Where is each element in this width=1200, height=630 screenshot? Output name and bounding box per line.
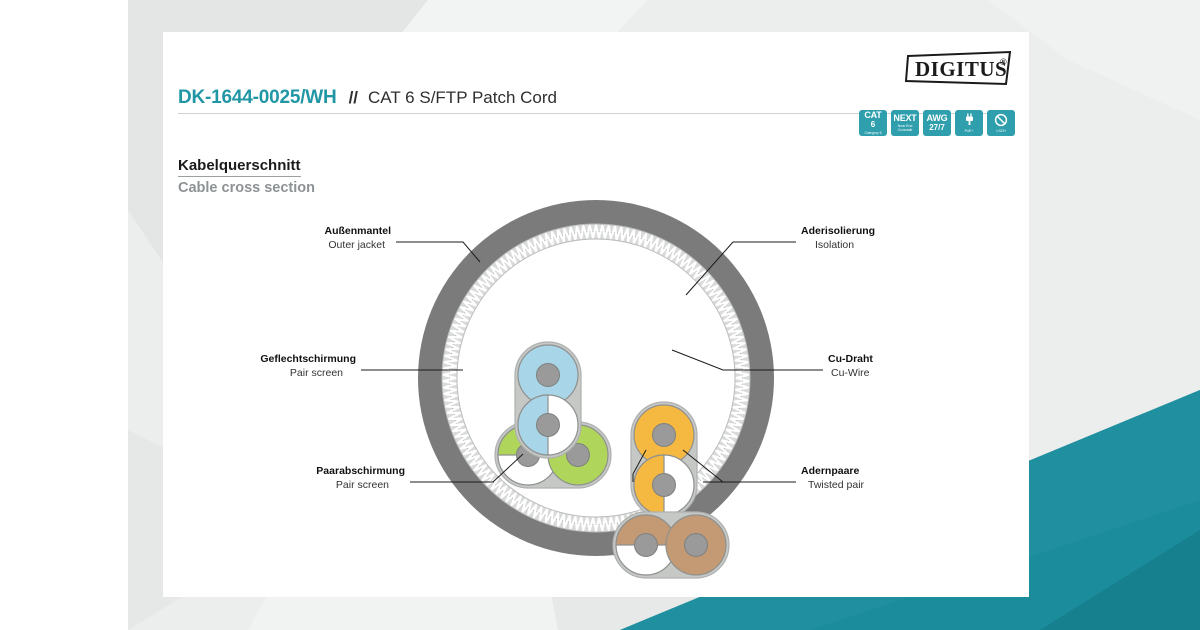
lszh-badge-sub: LSZH xyxy=(997,129,1006,133)
poe-badge: PoE+ xyxy=(955,110,983,136)
cat6-badge-mid: 6 xyxy=(871,121,875,129)
digitus-logo: DIGITUS ® xyxy=(904,50,1014,90)
callout-isolation: Aderisolierung Isolation xyxy=(801,225,875,251)
section-title-de: Kabelquerschnitt xyxy=(178,157,301,177)
callout-cu-wire: Cu-Draht Cu-Wire xyxy=(828,353,873,379)
callout-braid-shield-de: Geflechtschirmung xyxy=(260,353,356,365)
awg-badge-main: AWG xyxy=(927,114,948,123)
next-badge-sub: Near End Crosstalk xyxy=(891,124,919,132)
callout-outer-jacket: Außenmantel Outer jacket xyxy=(324,225,391,251)
awg-badge-mid: 27/7 xyxy=(929,124,945,132)
pair-brown xyxy=(613,512,729,578)
product-sku: DK-1644-0025/WH xyxy=(178,87,337,109)
lszh-badge: LSZH xyxy=(987,110,1015,136)
callout-cu-wire-en: Cu-Wire xyxy=(831,367,870,379)
logo-wordmark: DIGITUS xyxy=(915,57,1007,81)
next-badge-main: NEXT xyxy=(893,114,916,123)
product-name: CAT 6 S/FTP Patch Cord xyxy=(368,88,557,108)
pair-blue xyxy=(515,342,581,458)
plug-icon xyxy=(964,113,975,127)
background-left-margin xyxy=(0,0,128,630)
awg-badge: AWG 27/7 xyxy=(923,110,951,136)
cat6-badge: CAT 6 Category 6 xyxy=(859,110,887,136)
page-stage: DIGITUS ® DK-1644-0025/WH // CAT 6 S/FTP… xyxy=(0,0,1200,630)
callout-braid-shield-en: Pair screen xyxy=(290,367,343,379)
poe-badge-sub: PoE+ xyxy=(965,129,974,133)
callout-isolation-en: Isolation xyxy=(815,239,854,251)
certification-badges: CAT 6 Category 6 NEXT Near End Crosstalk… xyxy=(859,110,1015,136)
cat6-badge-main: CAT xyxy=(864,111,881,120)
content-card: DIGITUS ® DK-1644-0025/WH // CAT 6 S/FTP… xyxy=(163,32,1029,597)
callout-pair-screen-de: Paarabschirmung xyxy=(316,465,405,477)
next-badge: NEXT Near End Crosstalk xyxy=(891,110,919,136)
callout-isolation-de: Aderisolierung xyxy=(801,225,875,237)
wire-blue-white xyxy=(518,395,578,455)
wire-brown-solid xyxy=(666,515,726,575)
wire-orange-white xyxy=(634,455,694,515)
cable-cross-section-diagram: Außenmantel Outer jacket Geflechtschirmu… xyxy=(163,182,1029,582)
registered-trademark-symbol: ® xyxy=(1000,57,1007,67)
callout-cu-wire-de: Cu-Draht xyxy=(828,353,873,365)
callout-twisted-pair-de: Adernpaare xyxy=(801,465,860,477)
callout-outer-jacket-en: Outer jacket xyxy=(328,239,385,251)
cat6-badge-sub: Category 6 xyxy=(864,131,881,135)
no-smoke-icon xyxy=(994,113,1008,127)
header-separator: // xyxy=(349,88,358,108)
callout-pair-screen-en: Pair screen xyxy=(336,479,389,491)
callout-twisted-pair-en: Twisted pair xyxy=(808,479,865,491)
callout-twisted-pair: Adernpaare Twisted pair xyxy=(801,465,865,491)
callout-outer-jacket-de: Außenmantel xyxy=(324,225,391,237)
callout-pair-screen: Paarabschirmung Pair screen xyxy=(316,465,405,491)
callout-braid-shield: Geflechtschirmung Pair screen xyxy=(260,353,356,379)
